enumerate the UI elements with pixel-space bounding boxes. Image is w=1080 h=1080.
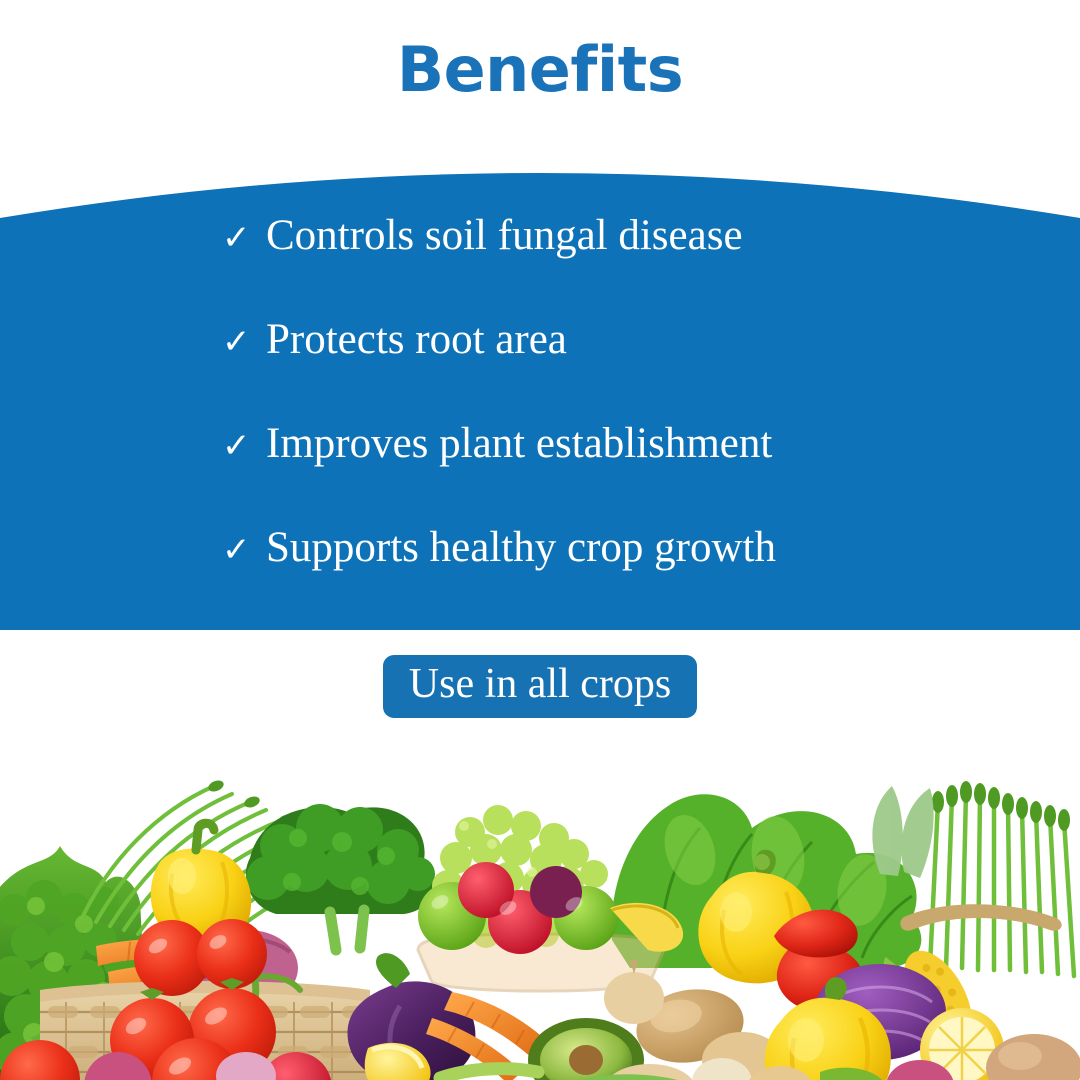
use-in-all-crops-badge: Use in all crops (383, 655, 697, 718)
check-icon: ✓ (222, 325, 266, 359)
benefits-list: ✓ Controls soil fungal disease ✓ Protect… (0, 140, 1080, 630)
page-title: Benefits (397, 39, 683, 101)
list-item: ✓ Controls soil fungal disease (0, 214, 1080, 318)
benefit-label: Improves plant establishment (266, 422, 772, 465)
check-icon: ✓ (222, 533, 266, 567)
list-item: ✓ Supports healthy crop growth (0, 526, 1080, 630)
check-icon: ✓ (222, 221, 266, 255)
badge-container: Use in all crops (0, 655, 1080, 718)
benefit-label: Protects root area (266, 318, 567, 361)
list-item: ✓ Improves plant establishment (0, 422, 1080, 526)
produce-image (0, 750, 1080, 1080)
title-container: Benefits (0, 0, 1080, 140)
benefits-poster: Benefits ✓ Controls soil fungal disease … (0, 0, 1080, 1080)
check-icon: ✓ (222, 429, 266, 463)
benefit-label: Controls soil fungal disease (266, 214, 743, 257)
benefit-label: Supports healthy crop growth (266, 526, 776, 569)
list-item: ✓ Protects root area (0, 318, 1080, 422)
